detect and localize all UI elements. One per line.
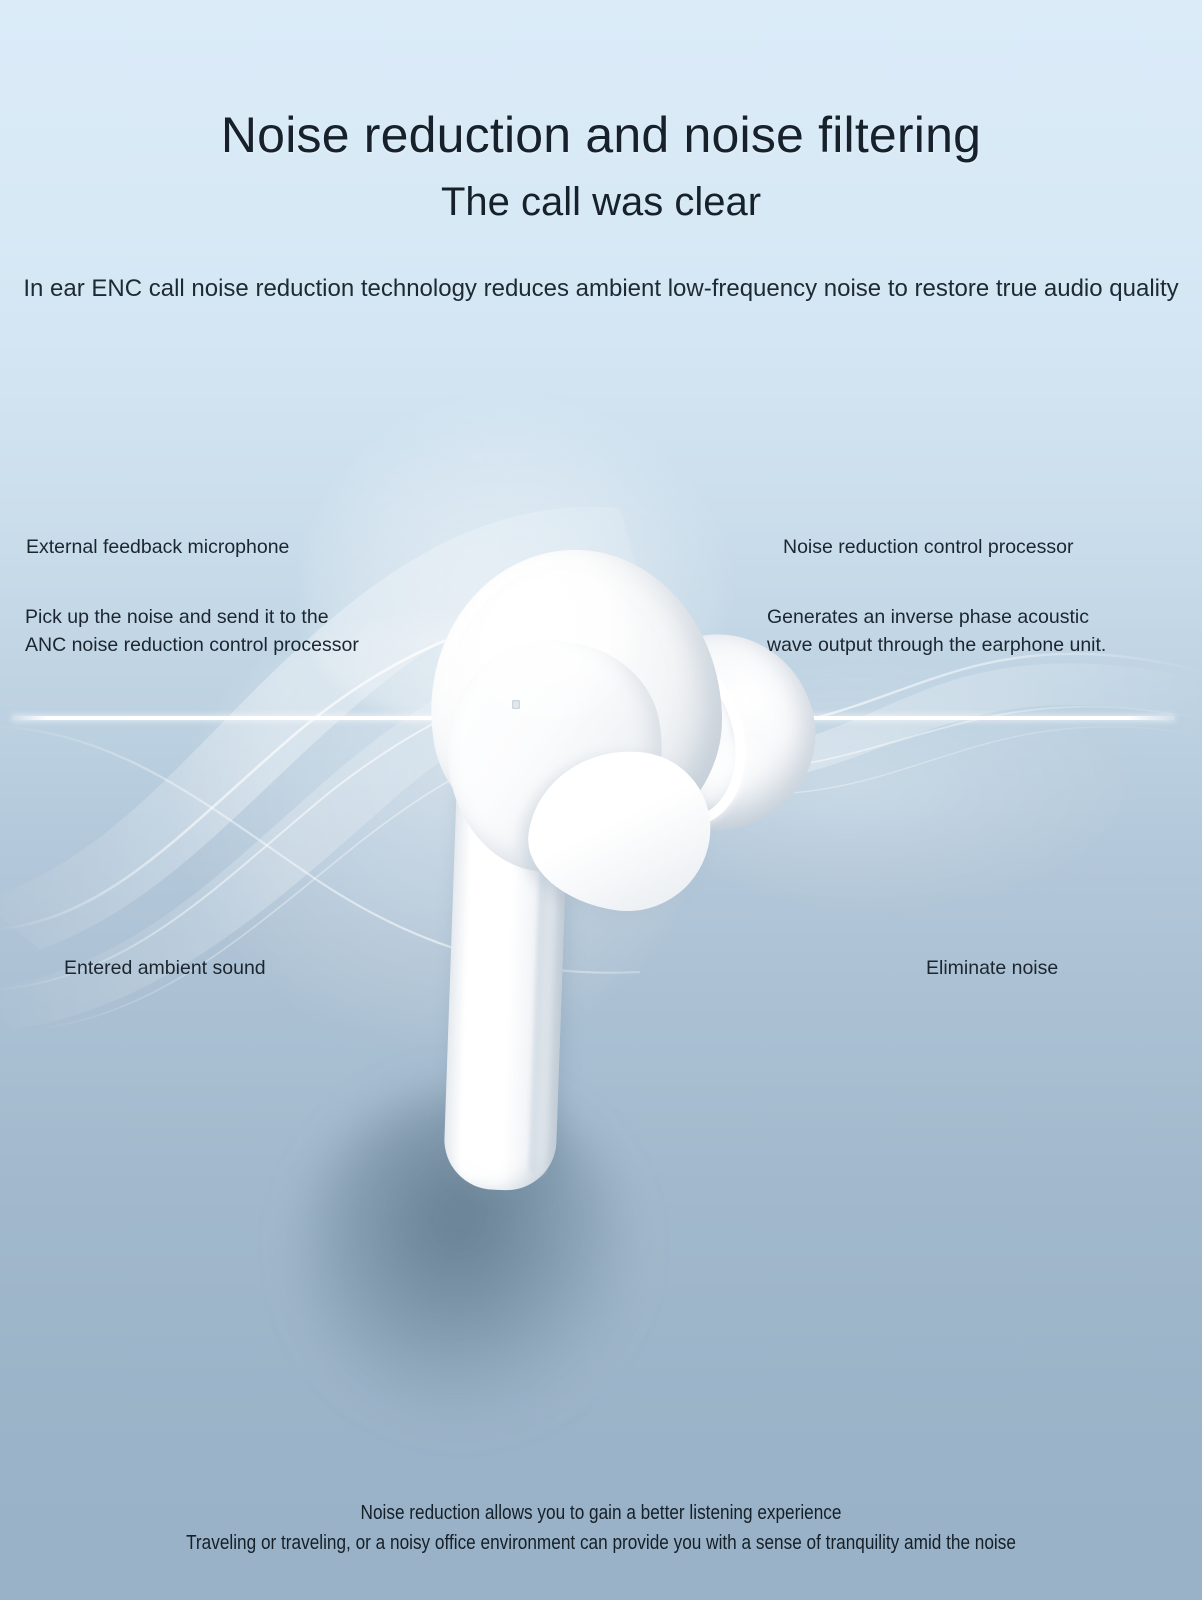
callout-noise-reduction-processor-body: Generates an inverse phase acoustic wave…	[767, 604, 1106, 659]
footer-line-2: Traveling or traveling, or a noisy offic…	[84, 1528, 1118, 1558]
callout-entered-ambient-sound: Entered ambient sound	[64, 955, 266, 983]
page-title-line2: The call was clear	[0, 162, 1202, 224]
footer-line-1: Noise reduction allows you to gain a bet…	[84, 1498, 1118, 1528]
callout-external-feedback-microphone-heading: External feedback microphone	[26, 534, 289, 562]
footer-block: Noise reduction allows you to gain a bet…	[0, 1498, 1202, 1559]
callout-eliminate-noise: Eliminate noise	[926, 955, 1058, 983]
header-block: Noise reduction and noise filtering The …	[0, 0, 1202, 307]
page-title-line1: Noise reduction and noise filtering	[0, 0, 1202, 162]
infographic-page: Noise reduction and noise filtering The …	[0, 0, 1202, 1600]
microphone-dot-icon	[512, 700, 520, 709]
callout-noise-reduction-processor-heading: Noise reduction control processor	[783, 534, 1073, 562]
callout-external-feedback-microphone-body: Pick up the noise and send it to the ANC…	[25, 604, 359, 659]
page-subtitle: In ear ENC call noise reduction technolo…	[0, 224, 1202, 307]
